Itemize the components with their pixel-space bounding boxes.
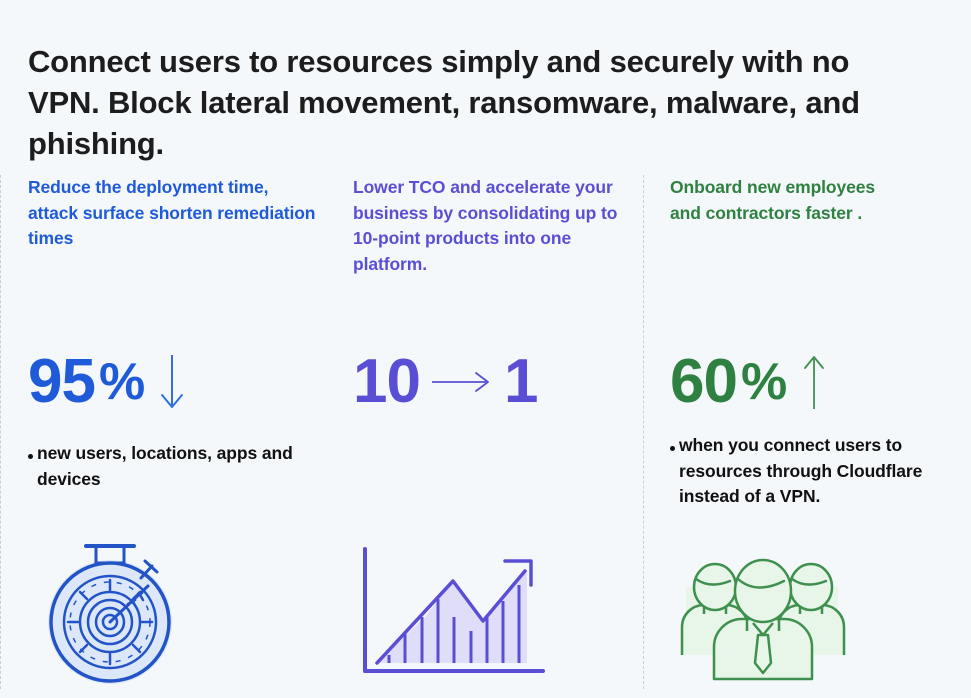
stat-percent-symbol: %: [741, 351, 787, 413]
stat-number: 95: [28, 351, 95, 413]
stat-column-tco: Lower TCO and accelerate your business b…: [353, 175, 623, 689]
bullet-dot-icon: [670, 446, 675, 451]
infographic-page: Connect users to resources simply and se…: [0, 0, 971, 689]
stat-number: 60: [670, 351, 737, 413]
growth-chart-icon: [353, 543, 553, 698]
page-title: Connect users to resources simply and se…: [28, 41, 928, 164]
stat-description-text: new users, locations, apps and devices: [37, 441, 318, 492]
up-arrow-icon: [799, 351, 829, 413]
column-heading: Onboard new employees and contractors fa…: [670, 175, 962, 226]
stat-description: new users, locations, apps and devices: [28, 441, 318, 492]
stat-column-onboard: Onboard new employees and contractors fa…: [670, 175, 962, 689]
stopwatch-target-icon: [40, 540, 180, 695]
stat-value-group: 10 1: [353, 351, 537, 413]
stat-number: 10: [353, 351, 420, 413]
right-arrow-icon: [430, 367, 494, 397]
column-heading: Reduce the deployment time, attack surfa…: [28, 175, 318, 252]
stat-description: when you connect users to resources thro…: [670, 433, 970, 510]
stat-value-group: 95 %: [28, 351, 187, 413]
column-divider-1: [0, 175, 1, 689]
stat-value-group: 60 %: [670, 351, 829, 413]
down-arrow-icon: [157, 351, 187, 413]
column-divider-2: [643, 175, 644, 689]
stat-description-text: when you connect users to resources thro…: [679, 433, 970, 510]
bullet-dot-icon: [28, 454, 33, 459]
column-heading: Lower TCO and accelerate your business b…: [353, 175, 623, 277]
stats-columns: Reduce the deployment time, attack surfa…: [0, 175, 971, 689]
stat-percent-symbol: %: [99, 351, 145, 413]
stat-column-reduce: Reduce the deployment time, attack surfa…: [28, 175, 318, 689]
team-people-icon: [668, 551, 858, 696]
stat-number-secondary: 1: [504, 351, 537, 413]
